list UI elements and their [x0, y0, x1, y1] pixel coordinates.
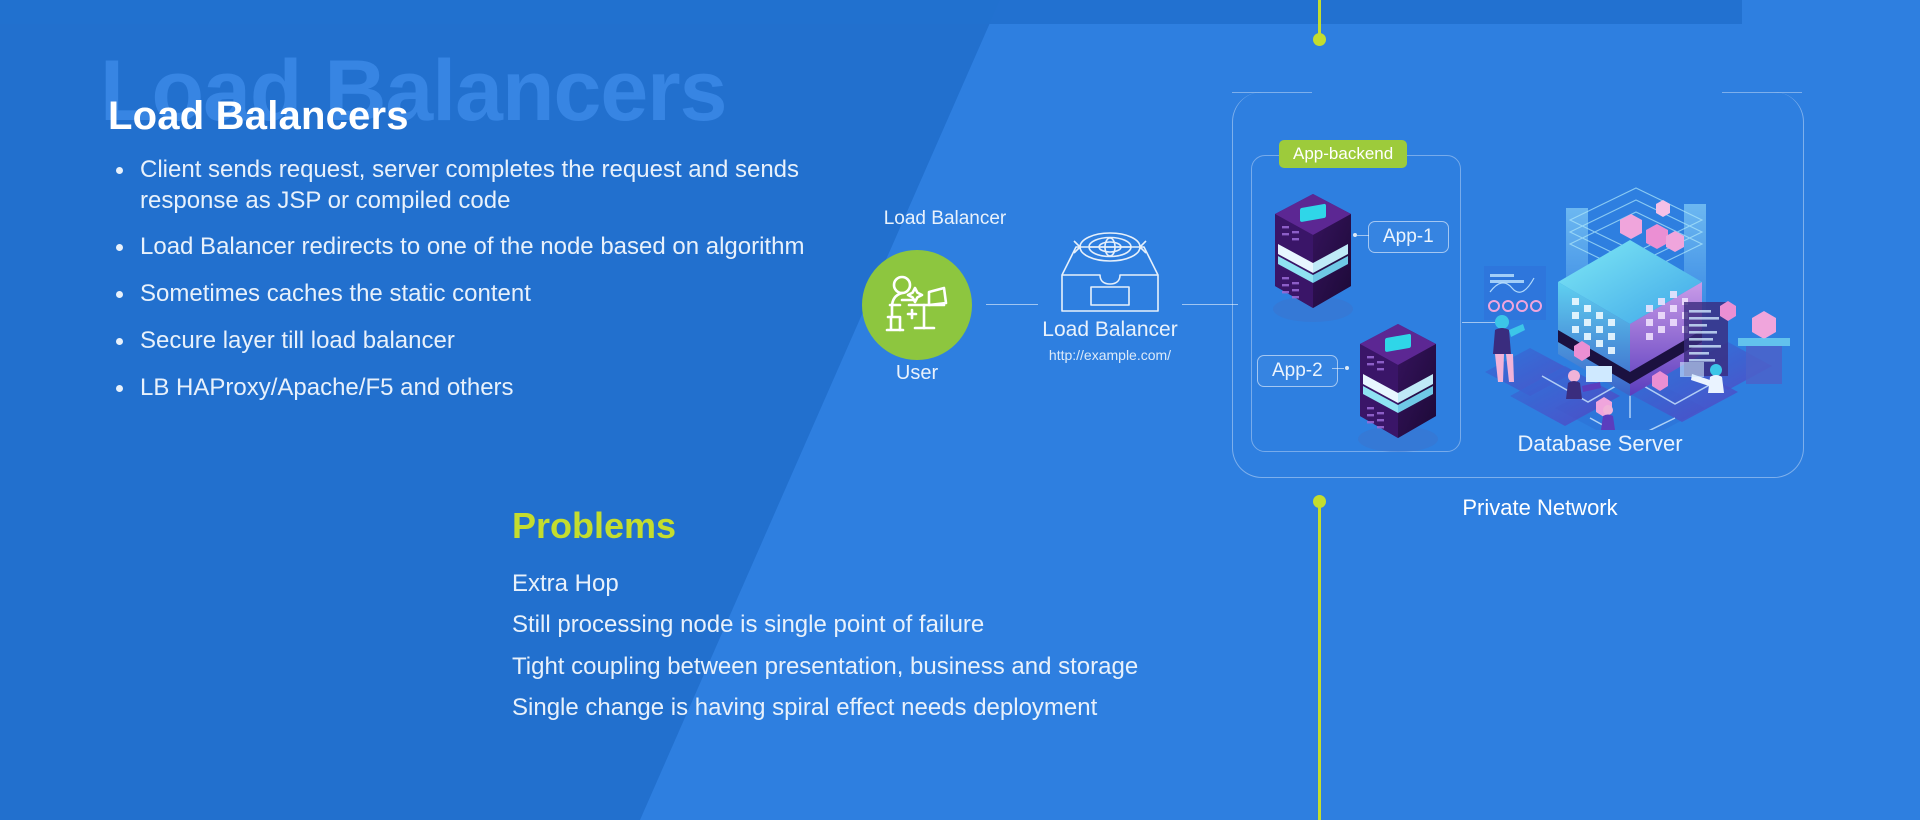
app-backend-tag: App-backend	[1279, 140, 1407, 168]
connector-user-to-lb	[986, 304, 1038, 305]
problems-list: Extra Hop Still processing node is singl…	[512, 563, 1272, 728]
page-title: Load Balancers	[108, 94, 828, 139]
private-network-frame-top-left	[1232, 92, 1312, 93]
left-content-column: Load Balancers Client sends request, ser…	[108, 94, 828, 419]
server-rack-app1-icon	[1267, 178, 1359, 326]
slide-canvas: Load Balancers Load Balancers Client sen…	[0, 0, 1920, 820]
load-balancer-top-caption: Load Balancer	[855, 208, 1035, 230]
problems-heading: Problems	[512, 505, 1272, 547]
app-node-label-app1[interactable]: App-1	[1368, 221, 1449, 253]
connector-app2-line	[1332, 368, 1344, 369]
list-item: Sometimes caches the static content	[108, 279, 828, 310]
load-balancer-box-label: Load Balancer	[1010, 318, 1210, 342]
green-connector-line-bottom	[1318, 505, 1321, 820]
user-label: User	[862, 362, 972, 385]
user-at-desk-icon	[882, 274, 952, 336]
private-network-label: Private Network	[1340, 495, 1740, 521]
load-balancer-box-icon	[1054, 225, 1166, 315]
green-connector-dot-top	[1313, 33, 1326, 46]
list-item: Client sends request, server completes t…	[108, 155, 828, 216]
list-item: Extra Hop	[512, 563, 1272, 604]
private-network-frame-top-right	[1722, 92, 1802, 93]
list-item: LB HAProxy/Apache/F5 and others	[108, 373, 828, 404]
connector-lb-to-backend	[1182, 304, 1238, 305]
database-server-illustration	[1470, 170, 1790, 430]
load-balancer-url: http://example.com/	[1010, 347, 1210, 363]
bullet-list: Client sends request, server completes t…	[108, 155, 828, 403]
list-item: Secure layer till load balancer	[108, 326, 828, 357]
user-avatar-circle	[862, 250, 972, 360]
list-item: Single change is having spiral effect ne…	[512, 687, 1272, 728]
list-item: Tight coupling between presentation, bus…	[512, 646, 1272, 687]
list-item: Load Balancer redirects to one of the no…	[108, 232, 828, 263]
problems-section: Problems Extra Hop Still processing node…	[512, 505, 1272, 728]
connector-dot-app2	[1345, 366, 1349, 370]
app-node-label-app2[interactable]: App-2	[1257, 355, 1338, 387]
background-top-bar	[0, 0, 1742, 24]
database-server-label: Database Server	[1400, 431, 1800, 457]
list-item: Still processing node is single point of…	[512, 604, 1272, 645]
green-connector-line-top	[1318, 0, 1321, 34]
